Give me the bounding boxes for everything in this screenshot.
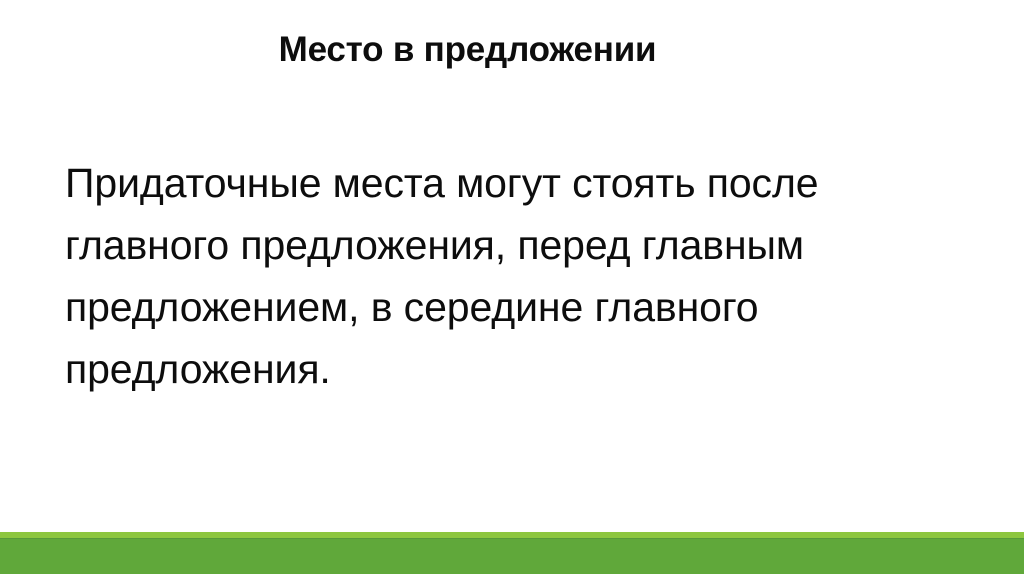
bottom-decorative-bar bbox=[0, 532, 1024, 574]
body-line: предложением, в середине главного bbox=[65, 276, 965, 338]
body-line: Придаточные места могут стоять после bbox=[65, 152, 965, 214]
slide-body-text: Придаточные места могут стоять после гла… bbox=[65, 152, 965, 400]
bar-main-band bbox=[0, 539, 1024, 574]
slide-title: Место в предложении bbox=[60, 28, 875, 72]
body-line: предложения. bbox=[65, 338, 965, 400]
body-line: главного предложения, перед главным bbox=[65, 214, 965, 276]
presentation-slide: Место в предложении Придаточные места мо… bbox=[0, 0, 1024, 574]
